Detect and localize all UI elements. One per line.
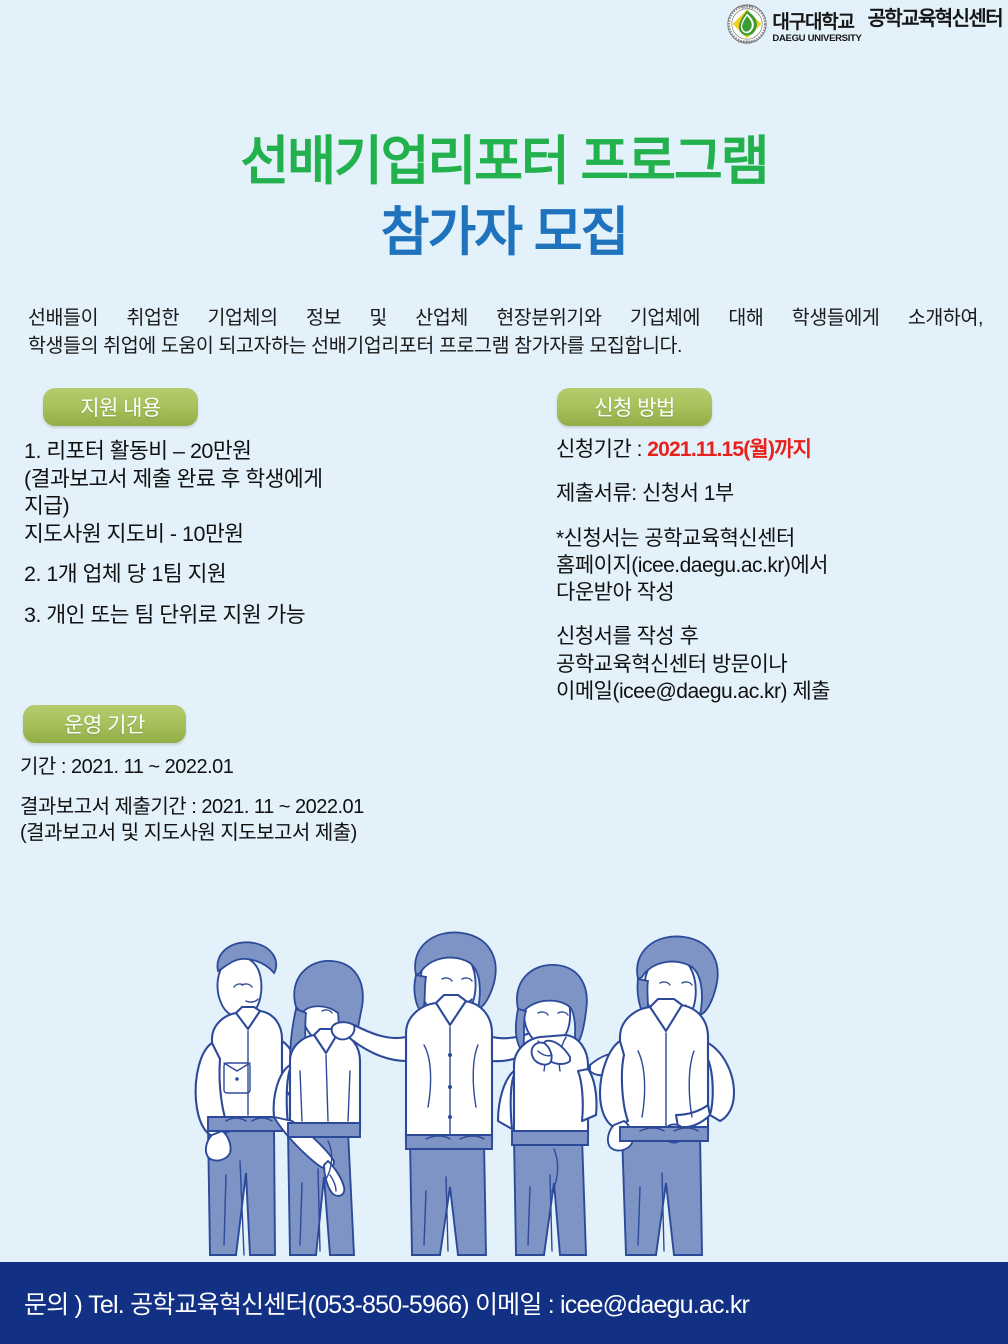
support-item-3-main: 3. 개인 또는 팀 단위로 지원 가능 xyxy=(24,603,305,627)
intro-line-2: 학생들의 취업에 도움이 되고자하는 선배기업리포터 프로그램 참가자를 모집합… xyxy=(28,332,983,360)
logo-university-name-en: DAEGU UNIVERSITY xyxy=(772,34,861,44)
support-item-1-main: 1. 리포터 활동비 – 20만원 xyxy=(24,439,251,463)
apply-note-block: *신청서는 공학교육혁신센터 홈페이지(icee.daegu.ac.kr)에서 … xyxy=(556,525,996,607)
apply-note-line-2: 홈페이지(icee.daegu.ac.kr)에서 xyxy=(556,552,996,579)
list-item: 3. 개인 또는 팀 단위로 지원 가능 xyxy=(24,602,504,630)
svg-text:대구대학: 대구대학 xyxy=(741,4,755,9)
daegu-university-emblem-icon: 대구대학 UNIVERSITY xyxy=(727,4,767,44)
svg-text:UNIVERSITY: UNIVERSITY xyxy=(738,39,756,43)
apply-documents-row: 제출서류: 신청서 1부 xyxy=(556,480,996,507)
poster-title-line-1: 선배기업리포터 프로그램 xyxy=(0,119,1008,195)
apply-method-block: 신청기간 : 2021.11.15(월)까지 제출서류: 신청서 1부 *신청서… xyxy=(556,436,996,705)
operation-period-row: 기간 : 2021. 11 ~ 2022.01 xyxy=(20,754,580,780)
apply-submit-line-3: 이메일(icee@daegu.ac.kr) 제출 xyxy=(556,678,996,705)
list-item: 2. 1개 업체 당 1팀 지원 xyxy=(24,561,504,589)
operation-report-period-text: 결과보고서 제출기간 : 2021. 11 ~ 2022.01 xyxy=(20,796,364,818)
header-logo: 대구대학 UNIVERSITY 대구대학교 DAEGU UNIVERSITY 공… xyxy=(727,4,1002,44)
apply-submit-block: 신청서를 작성 후 공학교육혁신센터 방문이나 이메일(icee@daegu.a… xyxy=(556,623,996,705)
intro-paragraph: 선배들이 취업한 기업체의 정보 및 산업체 현장분위기와 기업체에 대해 학생… xyxy=(28,304,983,361)
support-details-list: 1. 리포터 활동비 – 20만원 (결과보고서 제출 완료 후 학생에게 지급… xyxy=(24,438,504,629)
footer-contact-info: 문의 ) Tel. 공학교육혁신센터(053-850-5966) 이메일 : i… xyxy=(0,1285,749,1321)
section-badge-apply-method: 신청 방법 xyxy=(557,388,712,426)
support-item-1-sub-1: (결과보고서 제출 완료 후 학생에게 xyxy=(24,466,504,494)
operation-period-block: 기간 : 2021. 11 ~ 2022.01 결과보고서 제출기간 : 202… xyxy=(20,754,580,846)
operation-period-text: 기간 : 2021. 11 ~ 2022.01 xyxy=(20,756,233,778)
operation-report-row: 결과보고서 제출기간 : 2021. 11 ~ 2022.01 (결과보고서 및… xyxy=(20,794,580,846)
apply-period-label: 신청기간 : xyxy=(556,438,647,461)
apply-note-line-1: *신청서는 공학교육혁신센터 xyxy=(556,527,795,550)
student-5 xyxy=(600,936,734,1255)
footer-bar: 문의 ) Tel. 공학교육혁신센터(053-850-5966) 이메일 : i… xyxy=(0,1262,1008,1344)
apply-submit-line-1: 신청서를 작성 후 xyxy=(556,625,698,648)
support-item-1-sub-3: 지도사원 지도비 - 10만원 xyxy=(24,521,504,549)
section-badge-operation-period: 운영 기간 xyxy=(23,705,186,743)
section-badge-support-details: 지원 내용 xyxy=(43,388,198,426)
apply-period-row: 신청기간 : 2021.11.15(월)까지 xyxy=(556,436,996,463)
five-students-group-illustration: .ln { fill:none; stroke:#2d4a9a; stroke-… xyxy=(178,925,758,1263)
support-item-1-sub-2: 지급) xyxy=(24,493,504,521)
list-item: 1. 리포터 활동비 – 20만원 (결과보고서 제출 완료 후 학생에게 지급… xyxy=(24,438,504,548)
apply-deadline-value: 2021.11.15(월)까지 xyxy=(647,438,811,461)
logo-center-name: 공학교육혁신센터 xyxy=(868,2,1002,31)
apply-documents-text: 제출서류: 신청서 1부 xyxy=(556,482,734,505)
support-item-2-main: 2. 1개 업체 당 1팀 지원 xyxy=(24,562,226,586)
logo-university-name-ko: 대구대학교 xyxy=(772,13,861,32)
poster-title-line-2: 참가자 모집 xyxy=(0,190,1008,266)
apply-note-line-3: 다운받아 작성 xyxy=(556,579,996,606)
operation-report-note-text: (결과보고서 및 지도사원 지도보고서 제출) xyxy=(20,820,580,846)
apply-submit-line-2: 공학교육혁신센터 방문이나 xyxy=(556,651,996,678)
intro-line-1: 선배들이 취업한 기업체의 정보 및 산업체 현장분위기와 기업체에 대해 학생… xyxy=(28,304,983,332)
student-2 xyxy=(274,961,363,1255)
